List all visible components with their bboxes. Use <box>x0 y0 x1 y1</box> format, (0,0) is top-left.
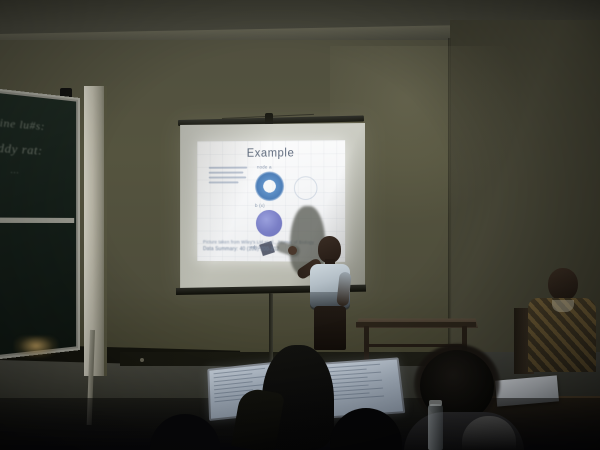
attendee-head <box>548 268 578 301</box>
screen-text-line <box>328 384 369 388</box>
blackboard-surface: ine lu#s: ddy rat: ... <box>0 93 76 356</box>
screen-text-line <box>328 387 383 392</box>
chalk-line-2: ddy rat: <box>0 140 43 159</box>
presenter-hand <box>288 246 297 255</box>
screen-text-line <box>325 363 380 368</box>
screen-text-line <box>326 371 381 376</box>
screen-text-line <box>213 367 265 374</box>
screen-text-line <box>329 392 370 396</box>
screen-text-line <box>327 376 368 380</box>
screen-text-line <box>326 368 367 372</box>
presenter-legs <box>314 306 346 350</box>
attendee-collar <box>552 300 574 312</box>
screen-tripod-pole <box>269 293 273 365</box>
table-leg-left <box>364 326 369 360</box>
screen-text-line <box>329 395 384 400</box>
chalk-line-1: ine lu#s: <box>0 117 45 133</box>
pillar-shadow-edge <box>104 86 107 376</box>
table-edge <box>356 322 476 327</box>
light-reflection <box>14 336 58 358</box>
wall-pillar <box>84 86 106 376</box>
presenter <box>296 230 358 350</box>
chalk-line-3: ... <box>11 165 20 176</box>
lecture-room-photo: ine lu#s: ddy rat: ... Example node a b … <box>0 0 600 450</box>
blackboard: ine lu#s: ddy rat: ... <box>0 88 80 360</box>
blackboard-divider <box>0 218 74 223</box>
water-bottle-cap <box>429 400 442 406</box>
wall-mark <box>140 358 144 362</box>
water-bottle <box>428 404 443 450</box>
screen-text-line <box>327 379 382 384</box>
